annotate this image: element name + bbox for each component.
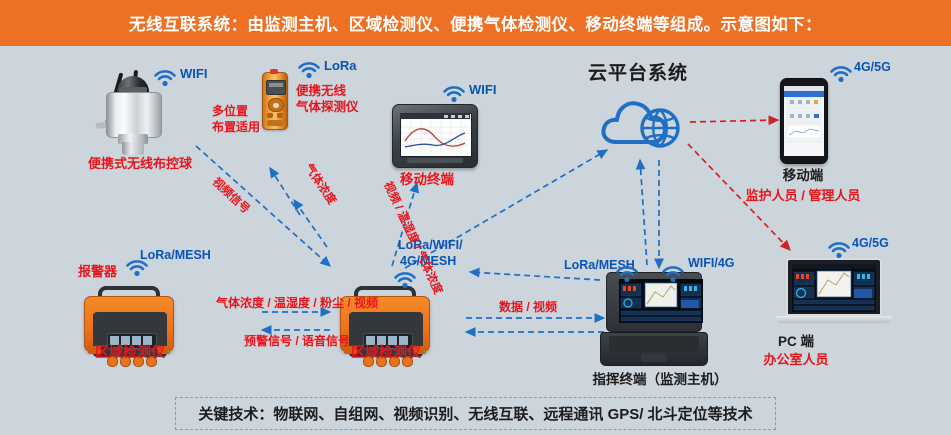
tablet-toolbar xyxy=(400,113,470,119)
pc-dashboard xyxy=(792,264,876,312)
phone-role-label: 监护人员 / 管理人员 xyxy=(746,188,861,203)
tablet-chart xyxy=(401,121,469,153)
link-label-data-video: 数据 / 视频 xyxy=(499,300,557,314)
pc-signal-label: 4G/5G xyxy=(852,236,889,251)
pc-role-label: 办公室人员 xyxy=(763,352,828,367)
gas-detector-button-left xyxy=(267,113,273,118)
gas-detector-label-line2: 气体探测仪 xyxy=(296,100,359,115)
tablet-bottom-bar xyxy=(407,158,463,163)
alarm-label: 报警器 xyxy=(78,264,117,279)
gas-detector-label-line1: 便携无线 xyxy=(296,84,346,99)
command-terminal-dashboard xyxy=(619,279,703,323)
footer-banner: 关键技术：物联网、自组网、视频识别、无线互联、远程通讯 GPS/ 北斗定位等技术 xyxy=(0,392,951,435)
wifi-icon-camera xyxy=(152,66,178,86)
camera-ball-label: 便携式无线布控球 xyxy=(88,156,192,171)
link-label-gas-temp-dust-video: 气体浓度 / 温湿度 / 粉尘 / 视频 xyxy=(216,296,378,310)
node-gas-detector[interactable] xyxy=(262,72,288,130)
command-terminal-keyboard xyxy=(609,336,699,352)
cloud-platform-label: 云平台系统 xyxy=(588,63,688,85)
footer-text: 关键技术：物联网、自组网、视频识别、无线互联、远程通讯 GPS/ 北斗定位等技术 xyxy=(198,403,752,424)
wifi-4g-icon-command-terminal xyxy=(660,262,686,282)
mobile-signal-icon-pc xyxy=(826,238,852,258)
node-mobile-phone[interactable] xyxy=(780,78,828,164)
node-mobile-terminal[interactable] xyxy=(392,104,478,168)
mobile-terminal-signal-label: WIFI xyxy=(469,82,496,97)
pc-lid xyxy=(786,258,882,316)
footer-box: 关键技术：物联网、自组网、视频识别、无线互联、远程通讯 GPS/ 北斗定位等技术 xyxy=(175,397,775,430)
phone-body xyxy=(780,78,828,164)
alarm-signal-label: LoRa/MESH xyxy=(140,248,211,263)
mobile-terminal-label: 移动终端 xyxy=(400,172,454,188)
gas-detector-sensor-grill xyxy=(267,120,283,126)
phone-signal-label: 4G/5G xyxy=(854,60,891,75)
gas-detector-keypad xyxy=(268,98,284,112)
wifi-icon-mobile-terminal xyxy=(441,82,467,102)
camera-body xyxy=(106,92,162,138)
diagram-canvas: 无线互联系统：由监测主机、区域检测仪、便携气体检测仪、移动终端等组成。示意图如下… xyxy=(0,0,951,435)
lora-wifi-icon-center-detector xyxy=(392,268,418,288)
link-label-alarm-voice: 预警信号 / 语音信号 xyxy=(244,334,350,348)
tablet-body xyxy=(392,104,478,168)
node-cloud-platform[interactable] xyxy=(598,92,694,154)
area-detector-center-label: 区域检测仪 xyxy=(351,344,421,361)
phone-app-header xyxy=(784,91,824,97)
gas-detector-note-line1: 多位置 xyxy=(212,104,248,118)
lora-icon-gas-detector xyxy=(296,58,322,78)
gas-detector-alarm-led xyxy=(270,69,278,74)
area-detector-left-label: 区域检测仪 xyxy=(95,344,165,361)
mobile-signal-icon-phone xyxy=(828,62,854,82)
gas-detector-body xyxy=(262,72,288,130)
command-terminal-touchpad xyxy=(641,354,667,362)
cloud-globe-icon xyxy=(598,92,694,154)
pc-screen xyxy=(792,264,876,312)
connection-layer xyxy=(0,0,951,435)
command-terminal-screen xyxy=(619,279,703,323)
pc-base xyxy=(776,316,892,323)
phone-screen xyxy=(784,86,824,156)
lora-mesh-icon-command-terminal xyxy=(614,262,640,282)
command-terminal-label: 指挥终端（监测主机） xyxy=(593,372,728,388)
camera-ball-signal-label: WIFI xyxy=(180,66,207,81)
camera-base xyxy=(122,142,144,155)
gas-detector-screen xyxy=(266,80,286,95)
phone-label: 移动端 xyxy=(783,168,824,184)
gas-detector-note-line2: 布置适用 xyxy=(212,120,260,134)
node-command-terminal[interactable] xyxy=(600,272,710,368)
pc-label: PC 端 xyxy=(778,334,814,350)
node-pc[interactable] xyxy=(786,258,886,326)
gas-detector-button-right xyxy=(277,113,283,118)
command-terminal-signal-right-label: WIFI/4G xyxy=(688,256,735,271)
gas-detector-signal-label: LoRa xyxy=(324,58,357,73)
